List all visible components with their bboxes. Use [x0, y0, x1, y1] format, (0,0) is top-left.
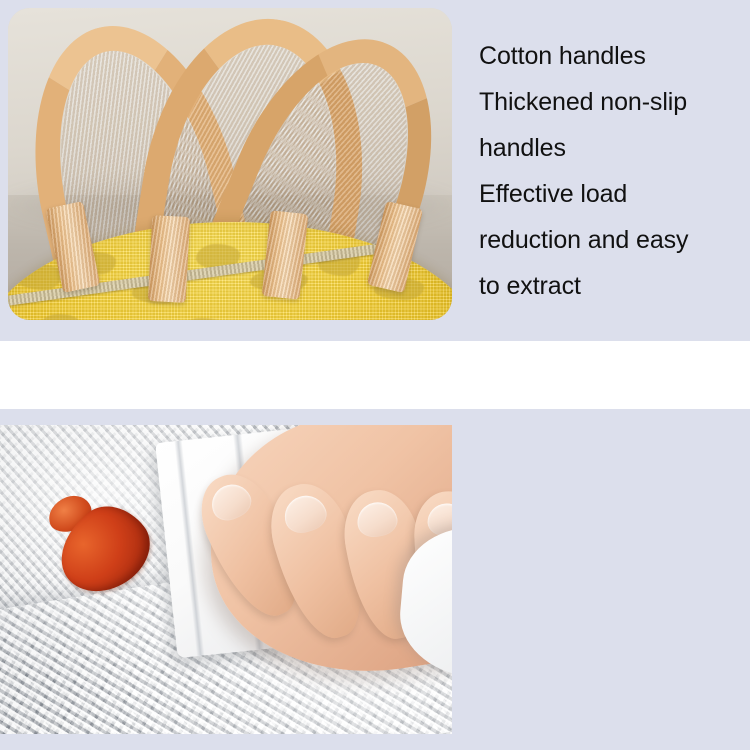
foil-liner-photo: [0, 425, 452, 734]
fingernail: [354, 499, 400, 540]
cotton-handles-photo: [8, 8, 452, 320]
fingernail: [280, 491, 331, 538]
tissue-crease: [174, 441, 205, 657]
fingernail: [206, 478, 257, 526]
feature-line: reduction and easy: [479, 217, 750, 263]
feature-panel-heat-preservation: Built-in thickened heat preservation lay…: [0, 409, 750, 750]
product-feature-page: Cotton handles Thickened non-slip handle…: [0, 0, 750, 750]
feature-line: handles: [479, 125, 750, 171]
feature-line: to extract: [479, 263, 750, 309]
feature-line: Cotton handles: [479, 33, 750, 79]
feature-text-cotton-handles: Cotton handles Thickened non-slip handle…: [479, 33, 750, 309]
feature-line: Thickened non-slip: [479, 79, 750, 125]
feature-panel-cotton-handles: Cotton handles Thickened non-slip handle…: [0, 0, 750, 341]
leopard-spot: [16, 264, 62, 290]
handle-strap-end-center: [148, 215, 190, 303]
feature-line: Effective load: [479, 171, 750, 217]
